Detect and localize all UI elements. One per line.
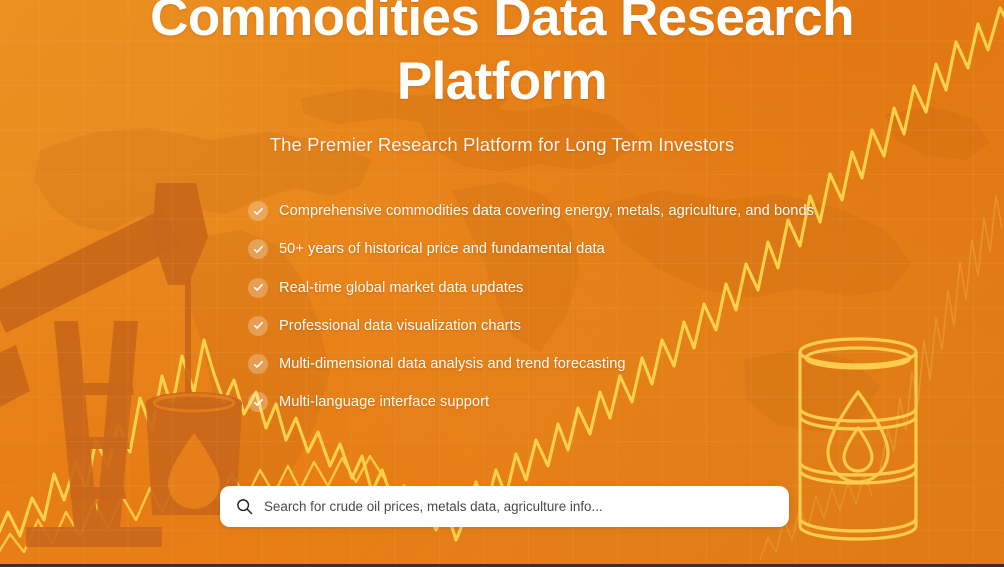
search-icon xyxy=(236,498,253,515)
check-circle-icon xyxy=(248,392,268,412)
check-circle-icon xyxy=(248,239,268,259)
check-circle-icon xyxy=(248,201,268,221)
feature-item: Multi-dimensional data analysis and tren… xyxy=(248,352,882,376)
feature-label: Multi-dimensional data analysis and tren… xyxy=(279,354,626,374)
check-circle-icon xyxy=(248,316,268,336)
feature-item: Professional data visualization charts xyxy=(248,314,882,338)
search-bar[interactable] xyxy=(220,486,789,527)
feature-label: 50+ years of historical price and fundam… xyxy=(279,239,605,259)
feature-item: Multi-language interface support xyxy=(248,390,882,414)
hero-banner: Commodities Data Research Platform The P… xyxy=(0,0,1004,567)
feature-label: Professional data visualization charts xyxy=(279,316,521,336)
check-circle-icon xyxy=(248,354,268,374)
page-subtitle: The Premier Research Platform for Long T… xyxy=(270,133,735,157)
search-input[interactable] xyxy=(264,486,773,527)
feature-label: Real-time global market data updates xyxy=(279,278,523,298)
hero-content: Commodities Data Research Platform The P… xyxy=(0,0,1004,567)
feature-item: Real-time global market data updates xyxy=(248,276,882,300)
feature-list: Comprehensive commodities data covering … xyxy=(122,199,882,414)
feature-item: 50+ years of historical price and fundam… xyxy=(248,237,882,261)
check-circle-icon xyxy=(248,278,268,298)
page-title: Commodities Data Research Platform xyxy=(112,0,892,114)
feature-item: Comprehensive commodities data covering … xyxy=(248,199,882,223)
feature-label: Comprehensive commodities data covering … xyxy=(279,201,814,221)
feature-label: Multi-language interface support xyxy=(279,392,489,412)
